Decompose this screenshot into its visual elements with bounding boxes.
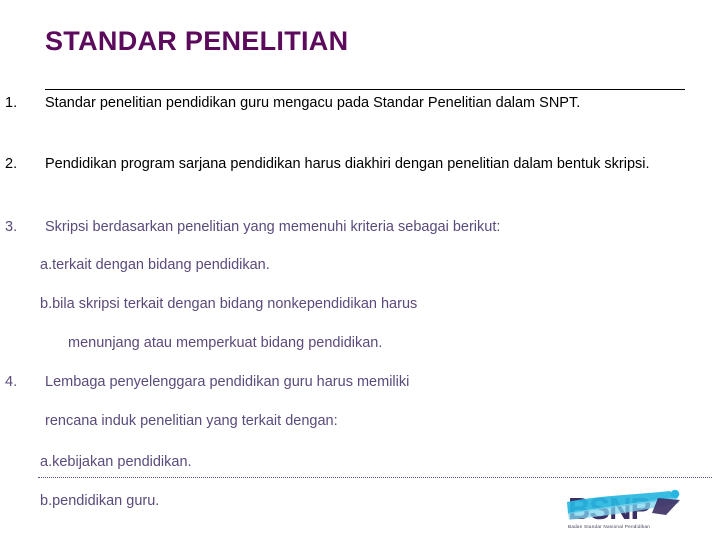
list-item-3-text: Skripsi berdasarkan penelitian yang meme… [45,218,500,237]
list-item-1-number: 1. [5,94,45,113]
horizontal-rule-dotted [38,477,712,478]
list-item-3: 3. Skripsi berdasarkan penelitian yang m… [5,218,705,237]
list-item-2-text: Pendidikan program sarjana pendidikan ha… [45,155,695,174]
slide-canvas: STANDAR PENELITIAN 1. Standar penelitian… [0,0,720,540]
list-item-2-number: 2. [5,155,45,174]
list-item-4-subitem-b: b.pendidikan guru. [40,492,159,511]
list-item-2: 2. Pendidikan program sarjana pendidikan… [5,155,705,174]
list-item-3-subitem-b-continuation: menunjang atau memperkuat bidang pendidi… [68,334,382,353]
page-title: STANDAR PENELITIAN [45,26,348,57]
list-item-3-number: 3. [5,218,45,237]
list-item-3-subitem-b: b.bila skripsi terkait dengan bidang non… [40,295,600,314]
list-item-1-text: Standar penelitian pendidikan guru menga… [45,94,693,113]
list-item-1: 1. Standar penelitian pendidikan guru me… [5,94,705,113]
list-item-4-text: Lembaga penyelenggara pendidikan guru ha… [45,373,409,392]
list-item-4-number: 4. [5,373,45,392]
list-item-4-continuation: rencana induk penelitian yang terkait de… [45,412,338,431]
horizontal-rule-top [45,89,685,90]
bsnp-tagline: Badan Standar Nasional Pendidikan [568,524,650,529]
list-item-4-subitem-a: a.kebijakan pendidikan. [40,453,192,472]
list-item-3-subitem-a: a.terkait dengan bidang pendidikan. [40,256,270,275]
list-item-4: 4. Lembaga penyelenggara pendidikan guru… [5,373,705,392]
